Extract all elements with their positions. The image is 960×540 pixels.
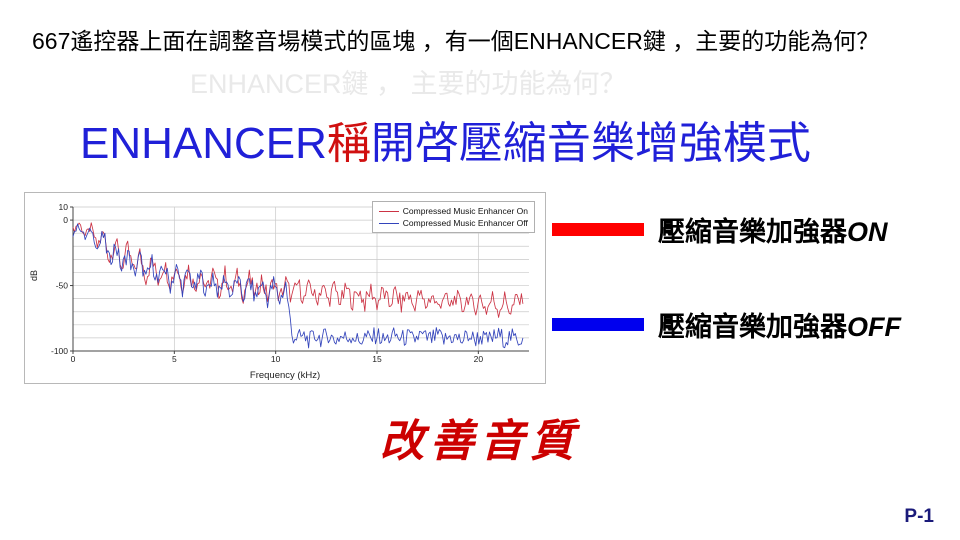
callout-enhancer-on: 壓縮音樂加強器ON [552, 210, 888, 249]
headline-red-char: 稱 [327, 119, 371, 168]
legend-item-on: Compressed Music Enhancer On [379, 205, 528, 217]
legend-label-on: Compressed Music Enhancer On [403, 205, 528, 217]
callout-off-latin: OFF [847, 312, 901, 342]
svg-text:20: 20 [474, 354, 484, 364]
svg-text:10: 10 [59, 202, 69, 212]
swatch-blue-icon [552, 318, 644, 331]
y-axis-label: dB [29, 270, 39, 281]
spectrum-chart: 100-50-10005101520 Compressed Music Enha… [24, 192, 546, 384]
swatch-red-icon [552, 223, 644, 236]
headline-part1: ENHANCER [80, 119, 327, 168]
svg-text:5: 5 [172, 354, 177, 364]
chart-legend: Compressed Music Enhancer On Compressed … [372, 201, 535, 233]
svg-text:-50: -50 [56, 281, 69, 291]
callout-enhancer-off: 壓縮音樂加強器OFF [552, 305, 901, 344]
ghost-placeholder-text: ENHANCER鍵 ， 主要的功能為何？ [190, 68, 950, 100]
headline: ENHANCER稱開啓壓縮音樂增強模式 [80, 118, 960, 170]
legend-item-off: Compressed Music Enhancer Off [379, 217, 528, 229]
callout-off-text: 壓縮音樂加強器OFF [658, 305, 901, 344]
svg-text:15: 15 [372, 354, 382, 364]
callout-on-cjk: 壓縮音樂加強器 [658, 217, 847, 247]
legend-label-off: Compressed Music Enhancer Off [403, 217, 528, 229]
callout-off-cjk: 壓縮音樂加強器 [658, 312, 847, 342]
svg-text:-100: -100 [51, 346, 68, 356]
conclusion-text: 改善音質 [0, 405, 960, 469]
svg-text:0: 0 [71, 354, 76, 364]
page-number: P-1 [904, 506, 934, 528]
x-axis-label: Frequency (kHz) [25, 370, 545, 381]
legend-line-red-icon [379, 211, 399, 212]
legend-line-blue-icon [379, 223, 399, 224]
callout-on-latin: ON [847, 217, 888, 247]
callout-on-text: 壓縮音樂加強器ON [658, 210, 888, 249]
svg-text:10: 10 [271, 354, 281, 364]
question-text: 667遙控器上面在調整音場模式的區塊 ，有一個ENHANCER鍵 ，主要的功能為… [32, 26, 932, 56]
slide: 667遙控器上面在調整音場模式的區塊 ，有一個ENHANCER鍵 ，主要的功能為… [0, 0, 960, 540]
headline-part2: 開啓壓縮音樂增強模式 [371, 119, 811, 168]
svg-text:0: 0 [63, 215, 68, 225]
